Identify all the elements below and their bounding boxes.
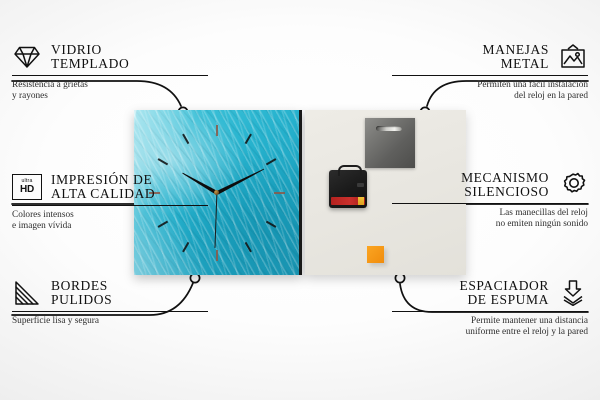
callout-mecanismo-silencioso: MECANISMO SILENCIOSO Las manecillas del …: [392, 170, 588, 231]
arrow-down-foam-icon: [558, 278, 588, 308]
callout-rule: [392, 75, 588, 76]
callout-rule: [12, 75, 208, 76]
callout-rule: [392, 203, 588, 204]
clock-minute-hand: [216, 167, 265, 195]
callout-espaciador-espuma: ESPACIADOR DE ESPUMA Permite mantener un…: [392, 278, 588, 339]
callout-description: Superficie lisa y segura: [12, 316, 208, 327]
hour-tick: [157, 158, 168, 165]
mechanism-hanging-loop: [338, 165, 362, 176]
callout-title: MECANISMO SILENCIOSO: [461, 171, 549, 200]
clock-second-hand: [214, 192, 217, 247]
diamond-icon: [12, 42, 42, 72]
hour-tick: [182, 133, 189, 144]
hour-tick: [244, 241, 251, 252]
polished-edge-icon: [12, 278, 42, 308]
callout-vidrio-templado: VIDRIO TEMPLADO Resistencia a grietas y …: [12, 42, 208, 103]
callout-bordes-pulidos: BORDES PULIDOS Superficie lisa y segura: [12, 278, 208, 327]
hour-tick: [216, 250, 218, 261]
callout-description: Permiten una fácil instalación del reloj…: [392, 80, 588, 103]
ultra-hd-icon: ultra HD: [12, 172, 42, 202]
callout-rule: [392, 311, 588, 312]
callout-impresion-alta-calidad: ultra HD IMPRESIÓN DE ALTA CALIDAD Color…: [12, 172, 208, 233]
hour-tick: [244, 133, 251, 144]
metal-hanger-plate: [365, 118, 415, 168]
picture-frame-hanger-icon: [558, 42, 588, 72]
callout-manejas-metal: MANEJAS METAL Permiten una fácil instala…: [392, 42, 588, 103]
callout-description: Las manecillas del reloj no emiten ningú…: [392, 208, 588, 231]
callout-description: Permite mantener una distancia uniforme …: [392, 316, 588, 339]
clock-center-pivot: [214, 190, 219, 195]
infographic-canvas: VIDRIO TEMPLADO Resistencia a grietas y …: [0, 0, 600, 400]
callout-title: ESPACIADOR DE ESPUMA: [459, 279, 549, 308]
hour-tick: [274, 192, 285, 194]
hour-tick: [182, 241, 189, 252]
gear-icon: [558, 170, 588, 200]
hour-tick: [265, 220, 276, 227]
callout-rule: [12, 311, 208, 312]
callout-title: MANEJAS METAL: [483, 43, 549, 72]
callout-title: IMPRESIÓN DE ALTA CALIDAD: [51, 173, 155, 202]
mechanism-red-label: [331, 197, 365, 205]
ultra-hd-icon-main-label: HD: [20, 185, 34, 195]
hour-tick: [265, 158, 276, 165]
callout-description: Colores intensos e imagen vívida: [12, 210, 208, 233]
mechanism-detail: [357, 183, 364, 187]
callout-title: VIDRIO TEMPLADO: [51, 43, 129, 72]
callout-title: BORDES PULIDOS: [51, 279, 112, 308]
quartz-mechanism-box: [329, 170, 367, 208]
callout-rule: [12, 205, 208, 206]
hour-tick: [216, 125, 218, 136]
foam-spacer-square: [367, 246, 384, 263]
hanger-slot: [376, 126, 402, 131]
callout-description: Resistencia a grietas y rayones: [12, 80, 208, 103]
